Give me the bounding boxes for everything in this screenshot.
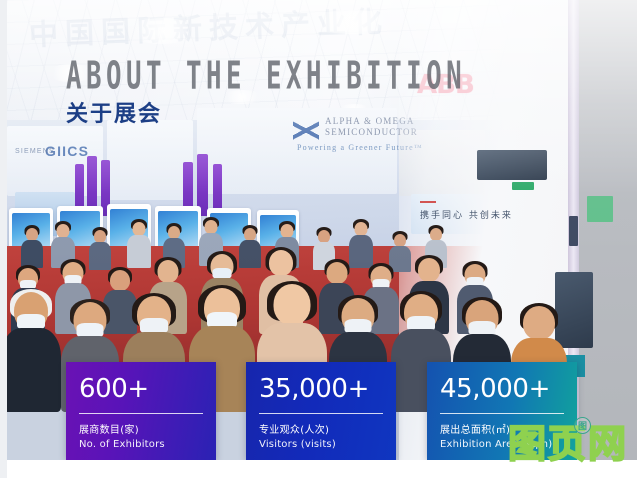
wall-display-panel <box>477 150 547 180</box>
watermark-badge-icon: 图 <box>574 417 591 434</box>
watermark-text: 图页网 <box>508 425 628 463</box>
stat-label-chinese: 专业观众(人次) <box>259 421 383 436</box>
ceiling-light <box>307 10 397 34</box>
stat-number: 600+ <box>79 376 203 402</box>
booth-panel <box>107 120 193 200</box>
stat-label-chinese: 展商数目(家) <box>79 421 203 436</box>
stat-number: 35,000+ <box>259 376 383 402</box>
visitor <box>127 222 151 268</box>
alpha-omega-logo-icon <box>293 116 319 146</box>
stat-divider <box>440 413 564 414</box>
stat-divider <box>79 413 203 414</box>
page-left-gutter <box>0 0 7 478</box>
stat-divider <box>259 413 383 414</box>
visitor <box>21 228 43 268</box>
page-title-chinese: 关于展会 <box>66 96 162 128</box>
ceiling-light <box>127 18 197 44</box>
booth-sign-siemens: SIEMENS <box>15 148 55 155</box>
wall-green-sign <box>512 182 534 190</box>
stat-card-visitors[interactable]: 35,000+ 专业观众(人次) Visitors (visits) <box>246 362 396 460</box>
stat-label-english: No. of Exhibitors <box>79 439 203 450</box>
exhibition-about-page: 中国国际新技术产业化 ALPHA & OMEGA SEMICONDUCTOR P… <box>0 0 637 478</box>
stat-number: 45,000+ <box>440 376 564 402</box>
stat-card-exhibitors[interactable]: 600+ 展商数目(家) No. of Exhibitors <box>66 362 216 460</box>
stat-label-english: Visitors (visits) <box>259 439 383 450</box>
visitor <box>89 230 111 270</box>
page-title-english: ABOUT THE EXHIBITION <box>66 54 466 99</box>
wall-slogan-dash <box>420 201 436 203</box>
